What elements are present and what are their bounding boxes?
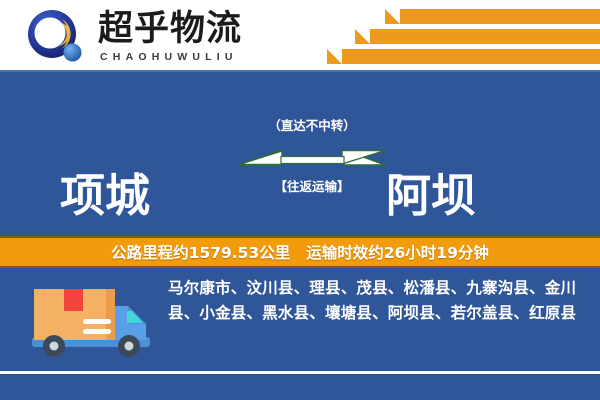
info-bar-content: 公路里程约1579.53公里运输时效约26小时19分钟 [111, 241, 489, 263]
brand-logo: 超乎物流 CHAOHUWULIU [26, 9, 242, 66]
banner-header: 超乎物流 CHAOHUWULIU [0, 0, 600, 72]
stripe-1 [400, 9, 600, 24]
circle-crescent-logo-icon [26, 9, 88, 66]
stripe-2 [370, 29, 600, 44]
logistics-route-banner: 超乎物流 CHAOHUWULIU 项城 （直达不中转） [0, 0, 600, 400]
double-headed-arrow-icon [237, 142, 387, 172]
route-panel: 项城 （直达不中转） 【往返运输】 阿坝 [0, 72, 600, 235]
delivery-truck-icon [28, 282, 156, 360]
route-note-bottom: 【往返运输】 [236, 179, 388, 195]
brand-wordmark: 超乎物流 CHAOHUWULIU [98, 9, 242, 64]
route-middle: （直达不中转） 【往返运输】 [236, 118, 388, 195]
brand-name-cn: 超乎物流 [98, 11, 242, 48]
route-info-bar: 公路里程约1579.53公里运输时效约26小时19分钟 [0, 236, 600, 268]
coverage-panel: 马尔康市、汶川县、理县、茂县、松潘县、九寨沟县、金川县、小金县、黑水县、壤塘县、… [0, 270, 600, 372]
banner-footer [0, 374, 600, 400]
coverage-areas-text: 马尔康市、汶川县、理县、茂县、松潘县、九寨沟县、金川县、小金县、黑水县、壤塘县、… [168, 276, 584, 326]
brand-name-en: CHAOHUWULIU [100, 51, 242, 64]
destination-city: 阿坝 [386, 172, 476, 220]
orange-speed-stripes-icon [340, 8, 600, 68]
duration-text: 运输时效约26小时19分钟 [306, 244, 489, 262]
stripe-3 [342, 49, 600, 64]
distance-text: 公路里程约1579.53公里 [111, 244, 290, 262]
route-note-top: （直达不中转） [236, 118, 388, 134]
origin-city: 项城 [60, 172, 150, 220]
